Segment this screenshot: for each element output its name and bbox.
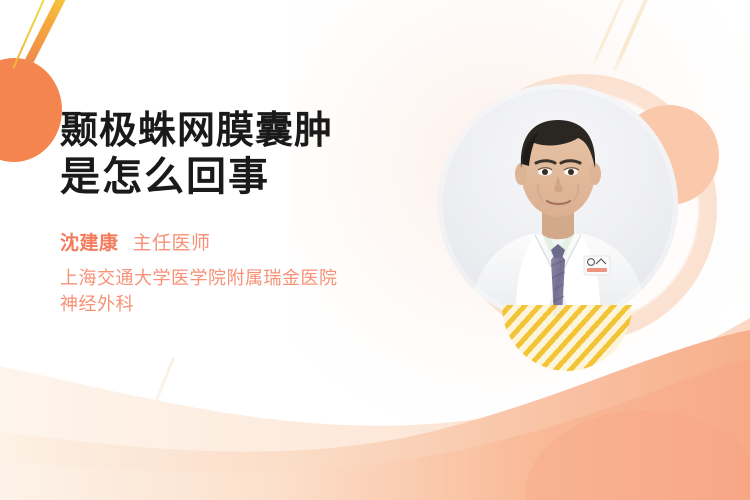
- doctor-hospital: 上海交通大学医学院附属瑞金医院: [60, 265, 460, 291]
- doctor-info-block: 沈建康 主任医师 上海交通大学医学院附属瑞金医院 神经外科: [60, 228, 460, 317]
- doctor-name-row: 沈建康 主任医师: [60, 228, 460, 255]
- orange-circle-decoration: [0, 58, 62, 162]
- mid-cream-stroke-icon: [154, 357, 175, 403]
- bottom-wave-decoration: [0, 300, 750, 500]
- top-left-strokes-decoration: [22, 0, 132, 68]
- cover-text-content: 颞极蛛网膜囊肿 是怎么回事 沈建康 主任医师 上海交通大学医学院附属瑞金医院 神…: [60, 108, 460, 317]
- page-title-line-1: 颞极蛛网膜囊肿: [60, 108, 460, 154]
- doctor-name: 沈建康: [60, 228, 119, 255]
- top-right-cream-stroke-b-icon: [593, 0, 630, 63]
- orange-gradient-stroke-icon: [24, 0, 70, 65]
- thin-yellow-stroke-icon: [12, 0, 50, 69]
- doctor-rank: 主任医师: [133, 228, 211, 255]
- page-title-line-2: 是怎么回事: [60, 154, 460, 200]
- article-cover-card: 颞极蛛网膜囊肿 是怎么回事 沈建康 主任医师 上海交通大学医学院附属瑞金医院 神…: [0, 0, 750, 500]
- doctor-portrait: [438, 84, 678, 324]
- doctor-department: 神经外科: [60, 291, 460, 317]
